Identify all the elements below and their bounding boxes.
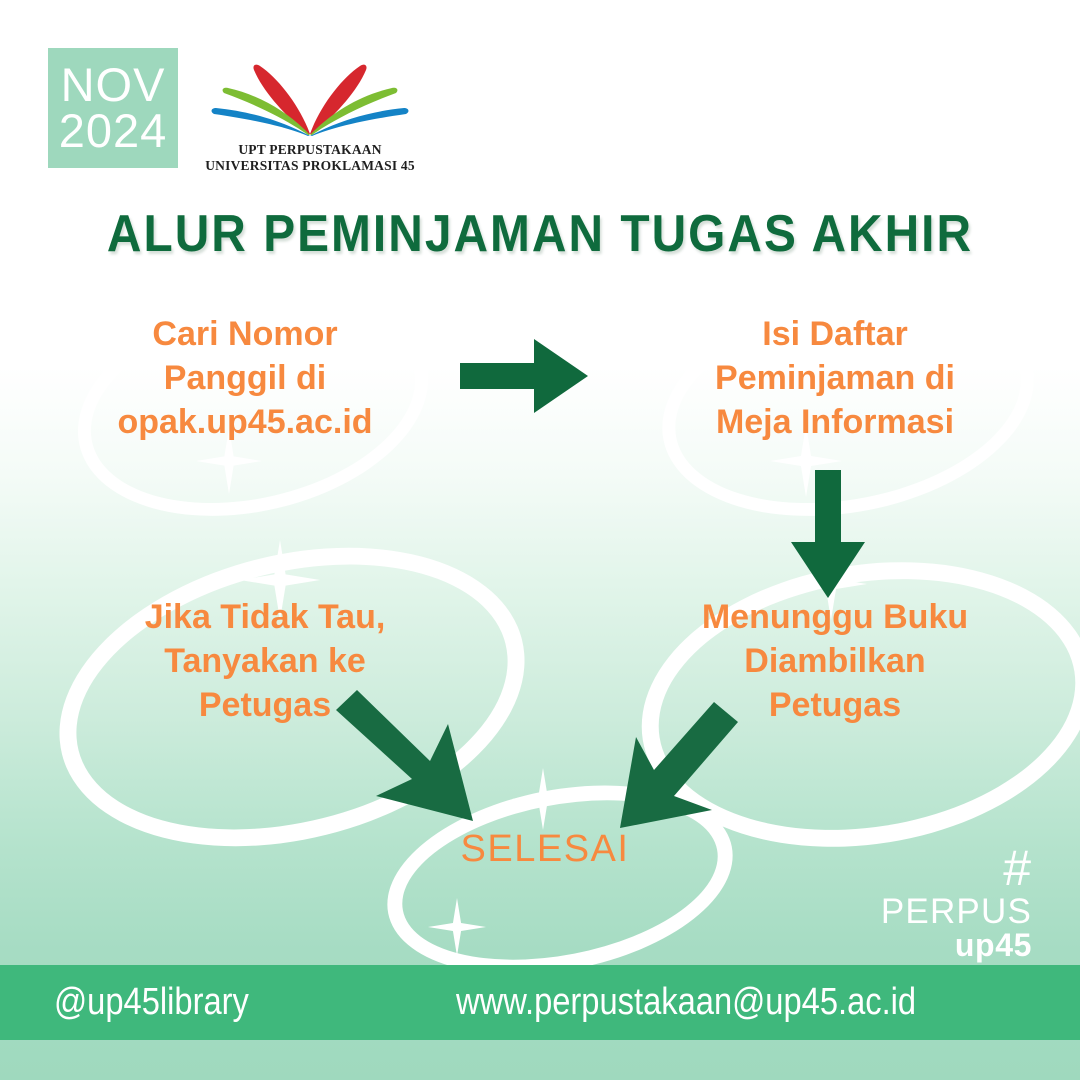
flow-step-4: Jika Tidak Tau, Tanyakan ke Petugas — [80, 596, 450, 728]
arrow-down-icon — [788, 470, 868, 600]
flow-step-2: Isi Daftar Peminjaman di Meja Informasi — [650, 313, 1020, 445]
logo-text-line1: UPT PERPUSTAKAAN — [205, 142, 415, 158]
flow-step-1-line1: Cari Nomor — [60, 313, 430, 357]
open-book-logo-icon — [204, 54, 416, 140]
flow-step-1-line2: Panggil di — [60, 357, 430, 401]
poster-header: NOV 2024 UPT PERPUSTAKAAN UNIVERSITAS PR… — [48, 48, 416, 174]
sparkle-icon-final-bottom — [428, 898, 486, 956]
hashtag-block: # PERPUS up45 — [881, 843, 1032, 962]
arrow-right-icon — [460, 336, 590, 416]
flow-step-4-line3: Petugas — [80, 684, 450, 728]
flow-step-3-line3: Petugas — [650, 684, 1020, 728]
flow-step-3: Menunggu Buku Diambilkan Petugas — [650, 596, 1020, 728]
poster-canvas: NOV 2024 UPT PERPUSTAKAAN UNIVERSITAS PR… — [0, 0, 1080, 1080]
flow-step-3-line1: Menunggu Buku — [650, 596, 1020, 640]
flow-step-2-line3: Meja Informasi — [650, 401, 1020, 445]
date-badge-month: NOV — [61, 62, 166, 108]
footer-bar: @up45library www.perpustakaan@up45.ac.id — [0, 965, 1080, 1040]
logo-text-line2: UNIVERSITAS PROKLAMASI 45 — [205, 158, 415, 174]
flow-final-label: SELESAI — [375, 828, 715, 871]
footer-website[interactable]: www.perpustakaan@up45.ac.id — [456, 981, 916, 1024]
library-logo: UPT PERPUSTAKAAN UNIVERSITAS PROKLAMASI … — [204, 54, 416, 174]
hashtag-line-up45: up45 — [881, 929, 1032, 962]
page-title: ALUR PEMINJAMAN TUGAS AKHIR — [43, 204, 1037, 264]
sparkle-icon-final-top — [512, 768, 574, 830]
flow-step-2-line1: Isi Daftar — [650, 313, 1020, 357]
flow-step-1-line3: opak.up45.ac.id — [60, 401, 430, 445]
footer-social-handle[interactable]: @up45library — [54, 981, 249, 1024]
library-logo-text: UPT PERPUSTAKAAN UNIVERSITAS PROKLAMASI … — [205, 142, 415, 174]
hashtag-line-perpus: PERPUS — [881, 894, 1032, 930]
flow-step-1: Cari Nomor Panggil di opak.up45.ac.id — [60, 313, 430, 445]
date-badge-year: 2024 — [59, 108, 168, 154]
date-badge: NOV 2024 — [48, 48, 178, 168]
flow-step-4-line2: Tanyakan ke — [80, 640, 450, 684]
flow-step-2-line2: Peminjaman di — [650, 357, 1020, 401]
hash-symbol-icon: # — [881, 843, 1032, 894]
flow-step-4-line1: Jika Tidak Tau, — [80, 596, 450, 640]
flow-step-3-line2: Diambilkan — [650, 640, 1020, 684]
